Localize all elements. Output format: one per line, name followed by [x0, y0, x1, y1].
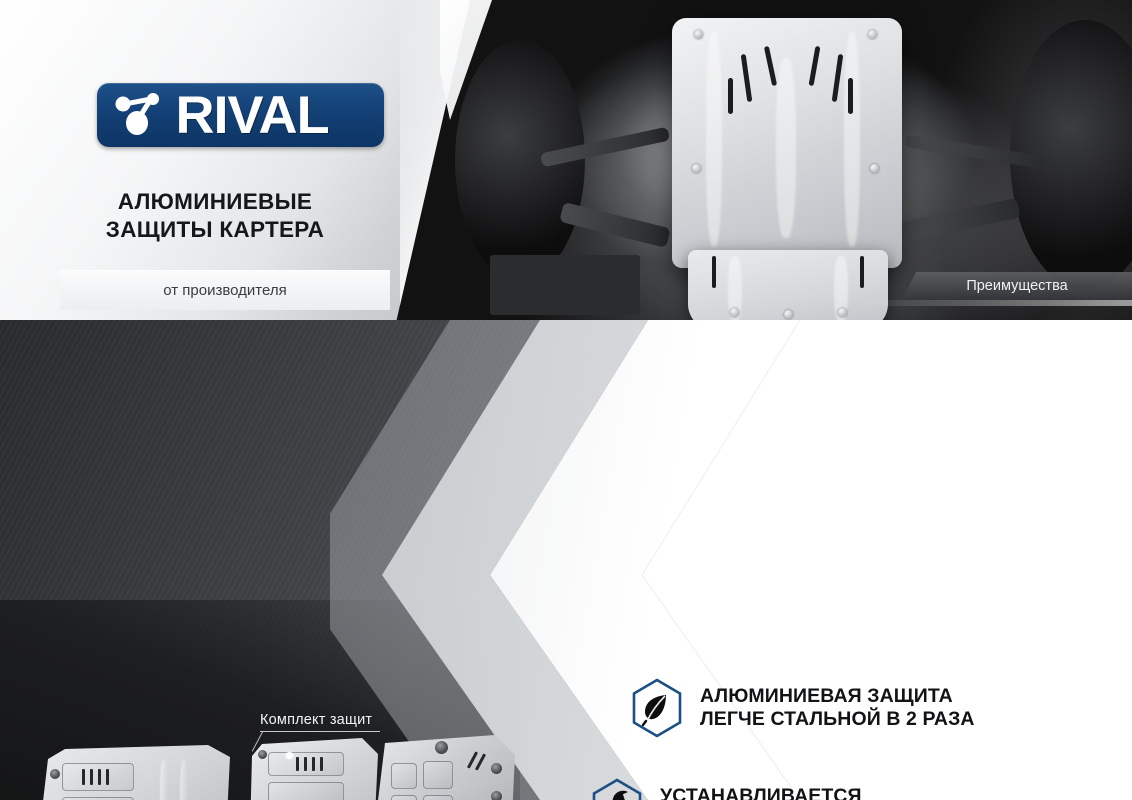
page-title-line1: АЛЮМИНИЕВЫЕ	[0, 188, 430, 216]
skid-plate-part-2	[250, 738, 378, 800]
subframe-left	[559, 202, 671, 248]
skid-plate-part-1	[40, 745, 230, 800]
feature-item-1: УСТАНАВЛИВАЕТСЯ В ШТАТНЫЕ МЕСТА	[590, 778, 862, 800]
advantages-tab-shine	[852, 300, 1132, 306]
callout-kit: Комплект защит	[260, 712, 380, 732]
feature-line1-1: УСТАНАВЛИВАЕТСЯ	[660, 785, 862, 800]
skid-plate-part-3	[375, 735, 515, 800]
product-and-features-panel: abo	[0, 320, 1132, 800]
feature-line1-0: АЛЮМИНИЕВАЯ ЗАЩИТА	[700, 685, 975, 708]
page-title-line2: ЗАЩИТЫ КАРТЕРА	[0, 216, 430, 244]
subtitle-pill: от производителя	[60, 270, 390, 310]
subtitle-text: от производителя	[163, 282, 286, 299]
molecule-icon	[111, 90, 169, 140]
rival-logo: RIVAL	[97, 83, 384, 147]
promo-banner: RIVAL АЛЮМИНИЕВЫЕ ЗАЩИТЫ КАРТЕРА от прои…	[0, 0, 1132, 800]
page-title: АЛЮМИНИЕВЫЕ ЗАЩИТЫ КАРТЕРА	[0, 188, 430, 244]
advantages-tab-label: Преимущества	[966, 278, 1067, 294]
skid-plate-installed	[672, 18, 902, 268]
feature-text-0: АЛЮМИНИЕВАЯ ЗАЩИТА ЛЕГЧЕ СТАЛЬНОЙ В 2 РА…	[700, 685, 975, 731]
skid-plate-rear-section	[688, 250, 888, 330]
wrench-icon	[590, 778, 644, 800]
callout-kit-label: Комплект защит	[260, 712, 372, 728]
fuel-tank	[490, 255, 640, 315]
features-list: АЛЮМИНИЕВАЯ ЗАЩИТА ЛЕГЧЕ СТАЛЬНОЙ В 2 РА…	[548, 650, 1132, 800]
vehicle-underbody-photo: RIVAL АЛЮМИНИЕВЫЕ ЗАЩИТЫ КАРТЕРА от прои…	[0, 0, 1132, 340]
leaf-icon	[630, 678, 684, 738]
callout-kit-point	[286, 752, 293, 759]
rival-logo-text: RIVAL	[175, 89, 328, 142]
feature-text-1: УСТАНАВЛИВАЕТСЯ В ШТАТНЫЕ МЕСТА	[660, 785, 862, 800]
feature-line2-0: ЛЕГЧЕ СТАЛЬНОЙ В 2 РАЗА	[700, 708, 975, 731]
subframe-right	[899, 198, 1021, 243]
feature-item-0: АЛЮМИНИЕВАЯ ЗАЩИТА ЛЕГЧЕ СТАЛЬНОЙ В 2 РА…	[630, 678, 975, 738]
advantages-tab: Преимущества	[902, 272, 1132, 300]
